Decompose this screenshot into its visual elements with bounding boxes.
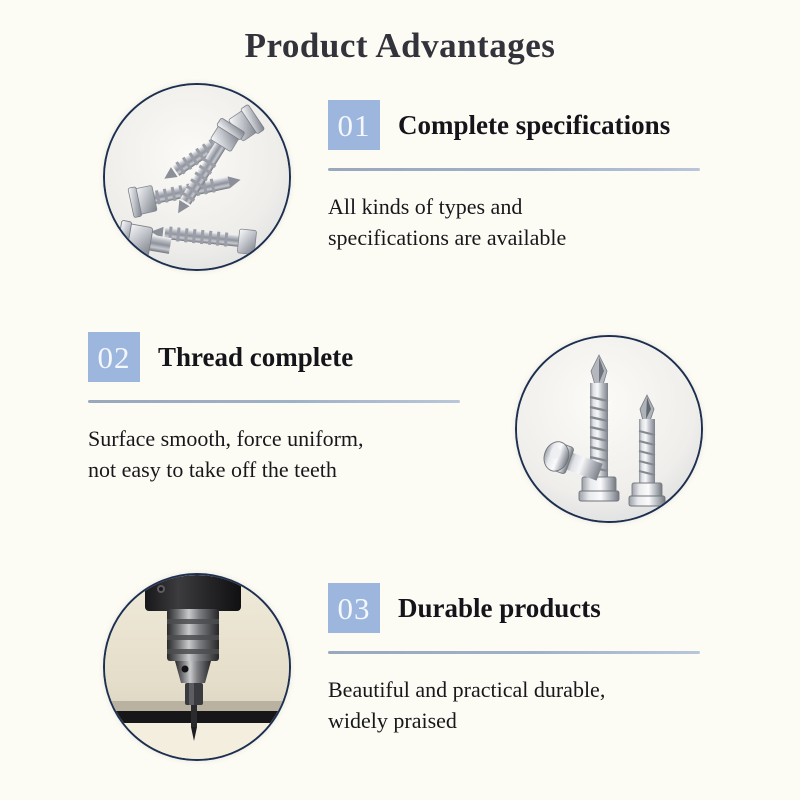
- advantage-section-01: 01 Complete specifications All kinds of …: [328, 100, 700, 253]
- advantage-section-03: 03 Durable products Beautiful and practi…: [328, 583, 700, 736]
- advantage-body-03: Beautiful and practical durable, widely …: [328, 674, 700, 736]
- advantage-header-01: 01 Complete specifications: [328, 100, 700, 150]
- advantage-body-02-line2: not easy to take off the teeth: [88, 454, 460, 485]
- number-badge-03: 03: [328, 583, 380, 633]
- advantage-heading-02: Thread complete: [158, 342, 353, 373]
- advantage-body-01: All kinds of types and specifications ar…: [328, 191, 700, 253]
- number-badge-01: 01: [328, 100, 380, 150]
- advantage-body-03-line2: widely praised: [328, 705, 700, 736]
- advantage-header-02: 02 Thread complete: [88, 332, 460, 382]
- page-title: Product Advantages: [0, 26, 800, 66]
- advantage-body-01-line2: specifications are available: [328, 222, 700, 253]
- advantage-section-02: 02 Thread complete Surface smooth, force…: [88, 332, 460, 485]
- advantage-body-01-line1: All kinds of types and: [328, 191, 700, 222]
- divider-03: [328, 651, 700, 654]
- advantage-body-03-line1: Beautiful and practical durable,: [328, 674, 700, 705]
- advantage-body-02: Surface smooth, force uniform, not easy …: [88, 423, 460, 485]
- advantage-header-03: 03 Durable products: [328, 583, 700, 633]
- number-badge-02: 02: [88, 332, 140, 382]
- drill-point-screws-photo: [515, 335, 703, 523]
- divider-01: [328, 168, 700, 171]
- hex-head-self-drilling-screws-photo: [103, 83, 291, 271]
- advantage-heading-03: Durable products: [398, 593, 601, 624]
- advantage-body-02-line1: Surface smooth, force uniform,: [88, 423, 460, 454]
- power-drill-driving-screw-photo: [103, 573, 291, 761]
- advantage-heading-01: Complete specifications: [398, 110, 670, 141]
- divider-02: [88, 400, 460, 403]
